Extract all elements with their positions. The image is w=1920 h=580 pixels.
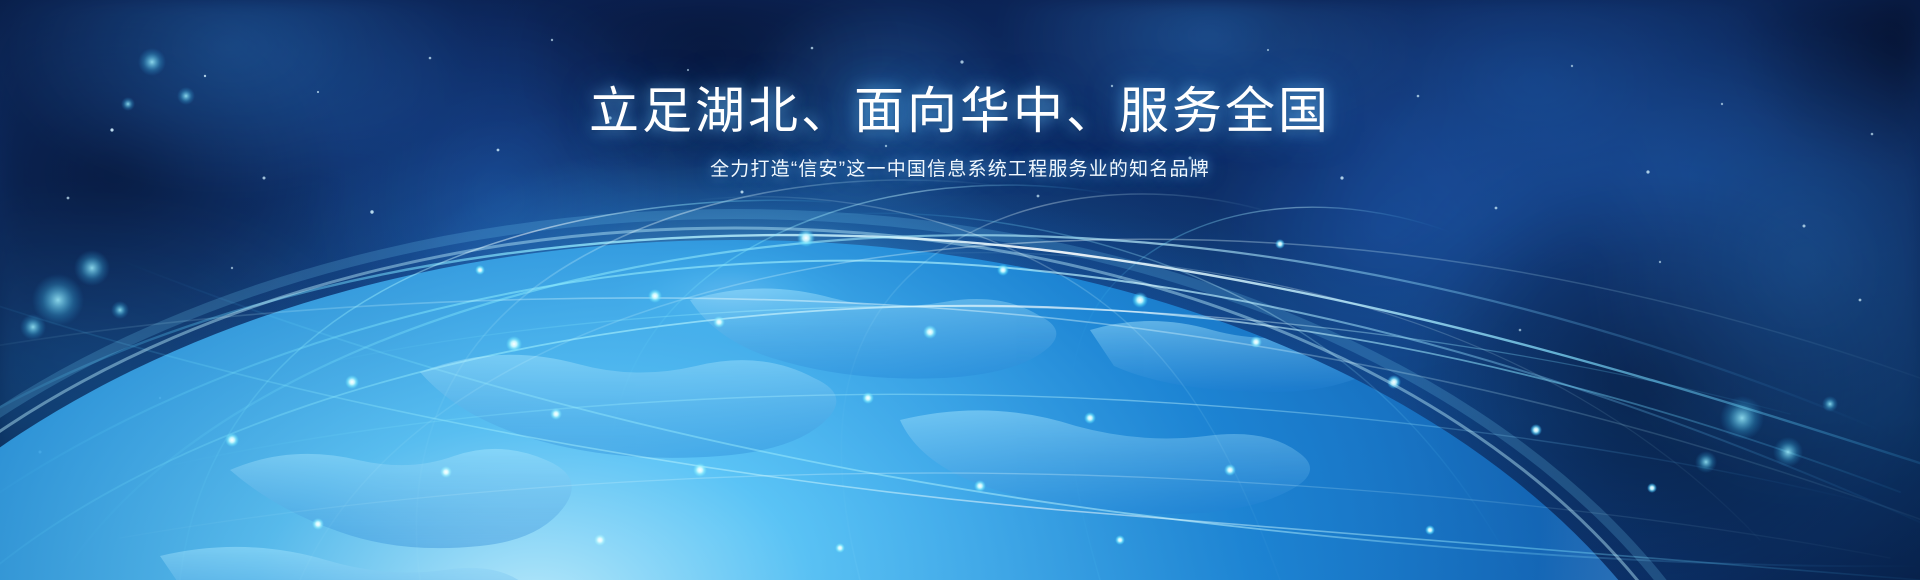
banner-headline: 立足湖北、面向华中、服务全国 bbox=[0, 84, 1920, 138]
hero-banner: 立足湖北、面向华中、服务全国 全力打造“信安”这一中国信息系统工程服务业的知名品… bbox=[0, 0, 1920, 580]
banner-text-block: 立足湖北、面向华中、服务全国 全力打造“信安”这一中国信息系统工程服务业的知名品… bbox=[0, 84, 1920, 181]
banner-subheadline: 全力打造“信安”这一中国信息系统工程服务业的知名品牌 bbox=[0, 154, 1920, 181]
